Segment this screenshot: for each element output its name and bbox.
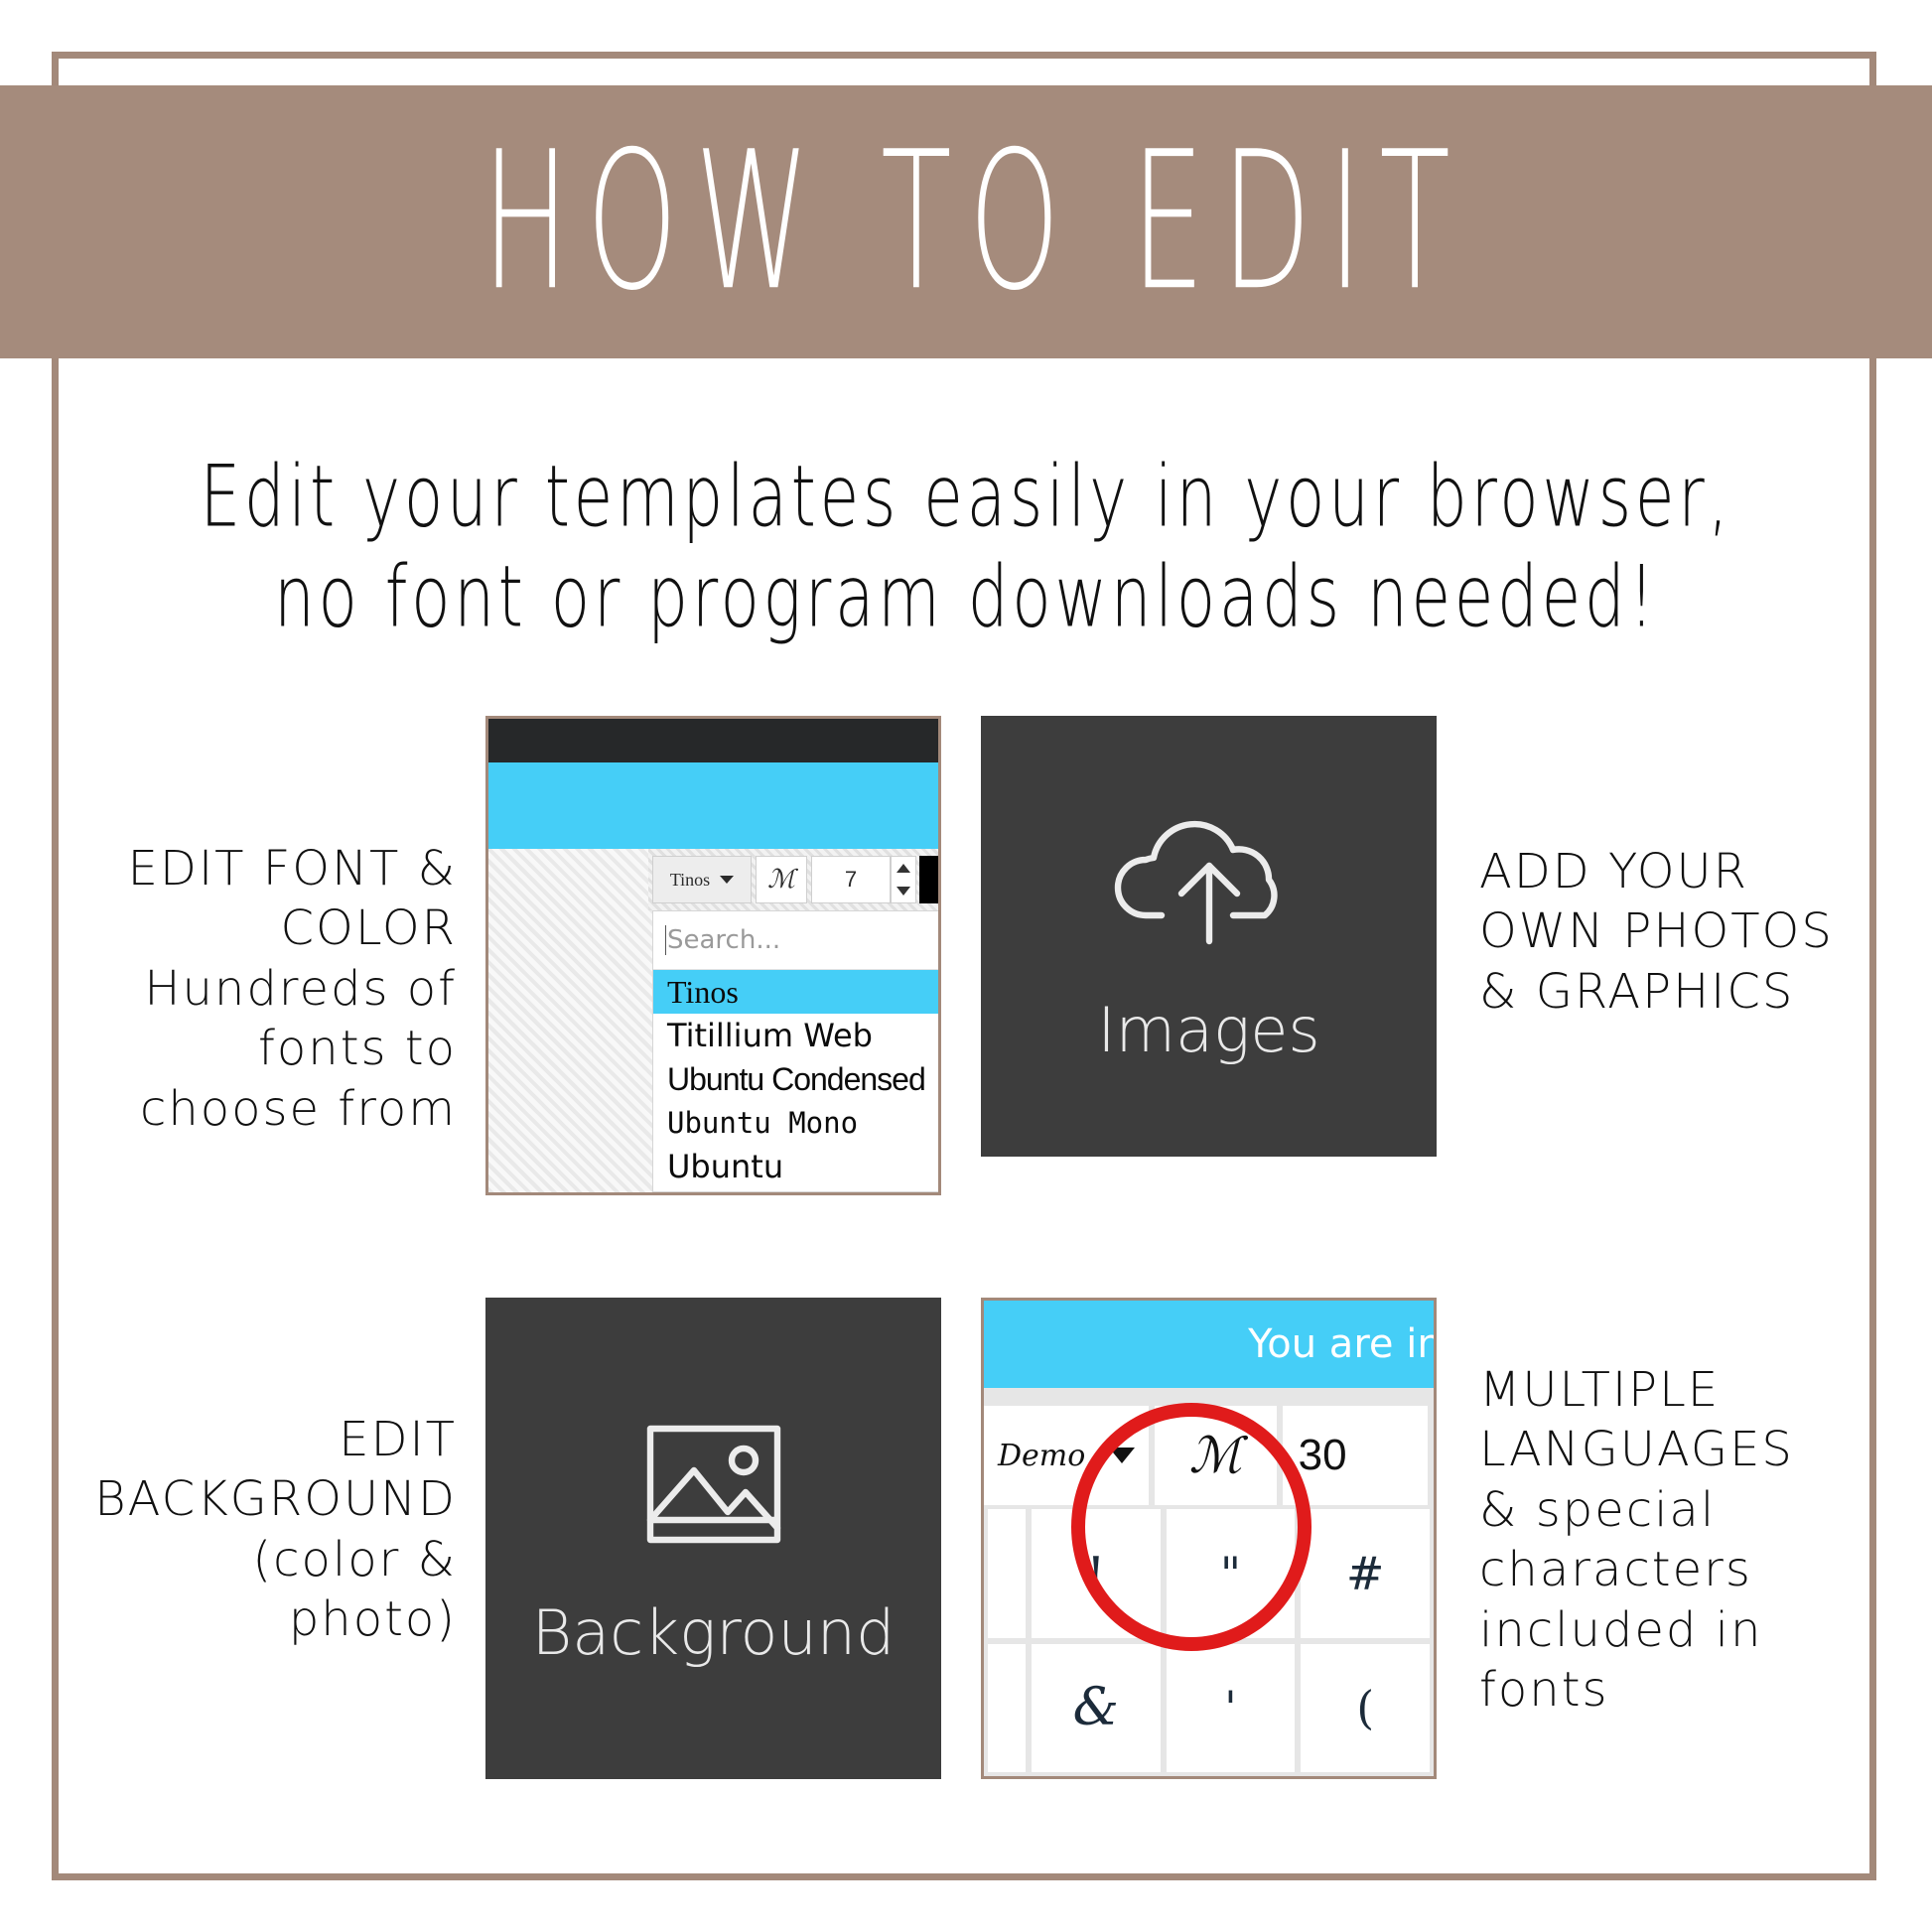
- subtitle-line-2: no font or program downloads needed!: [187, 547, 1745, 647]
- app-blue-banner: [488, 762, 938, 849]
- caption-bg-heading-2: BACKGROUND: [30, 1469, 457, 1529]
- caption-lang-body-3: included in: [1479, 1600, 1906, 1660]
- font-size-value: 30: [1299, 1431, 1347, 1480]
- caption-lang-body-2: characters: [1479, 1540, 1906, 1599]
- screenshot-special-characters: You are in e Demo ℳ 30 ! " # & ' (: [981, 1298, 1437, 1779]
- font-dropdown-list: Search... Tinos Titillium Web Ubuntu Con…: [652, 910, 941, 1192]
- screenshot-font-picker: Tinos ℳ 7 Search... Tinos Titillium Web …: [485, 716, 941, 1195]
- font-option-label: Ubuntu: [667, 1148, 783, 1185]
- caption-font-body-2: fonts to: [30, 1019, 457, 1078]
- caption-photos-heading-2: OWN PHOTOS: [1479, 901, 1906, 961]
- caption-photos-heading-1: ADD YOUR: [1479, 842, 1906, 901]
- caption-font-heading-2: COLOR: [30, 898, 457, 958]
- chevron-down-icon: [720, 876, 734, 884]
- char-cell-apostrophe[interactable]: ': [1167, 1644, 1296, 1773]
- font-search-input[interactable]: Search...: [653, 911, 941, 970]
- text-color-swatch[interactable]: [919, 856, 941, 903]
- caption-multiple-languages: MULTIPLE LANGUAGES & special characters …: [1479, 1360, 1906, 1721]
- font-toolbar: Tinos ℳ 7: [648, 849, 941, 910]
- font-option-titillium-web[interactable]: Titillium Web: [653, 1014, 941, 1057]
- char-cell[interactable]: [988, 1644, 1026, 1773]
- caption-lang-body-4: fonts: [1479, 1660, 1906, 1720]
- font-option-label: Tinos: [667, 974, 739, 1011]
- background-label: Background: [532, 1596, 896, 1669]
- app-blue-banner: You are in e: [984, 1301, 1434, 1388]
- char-cell-paren-open[interactable]: (: [1301, 1644, 1430, 1773]
- page-title: HOW TO EDIT: [465, 127, 1467, 318]
- cloud-upload-icon: [1110, 806, 1309, 960]
- caption-edit-font-color: EDIT FONT & COLOR Hundreds of fonts to c…: [30, 839, 457, 1139]
- caption-lang-body-1: & special: [1479, 1480, 1906, 1540]
- font-option-tinos[interactable]: Tinos: [653, 970, 941, 1014]
- font-option-ubuntu-condensed[interactable]: Ubuntu Condensed: [653, 1057, 941, 1101]
- picture-icon: [634, 1409, 793, 1563]
- banner-text: You are in e: [1248, 1321, 1437, 1367]
- images-label: Images: [1097, 994, 1319, 1066]
- caption-bg-body-2: photo): [30, 1589, 457, 1649]
- subtitle-line-1: Edit your templates easily in your brows…: [187, 447, 1745, 547]
- stepper-down-icon[interactable]: [897, 887, 910, 896]
- header-banner: HOW TO EDIT: [0, 85, 1932, 358]
- red-highlight-circle: [1071, 1403, 1311, 1651]
- caption-edit-background: EDIT BACKGROUND (color & photo): [30, 1410, 457, 1650]
- font-option-label: Titillium Web: [667, 1017, 873, 1054]
- stepper-up-icon[interactable]: [897, 864, 910, 873]
- char-cell-ampersand[interactable]: &: [1032, 1644, 1161, 1773]
- caption-font-body-1: Hundreds of: [30, 959, 457, 1019]
- caption-bg-heading-1: EDIT: [30, 1410, 457, 1469]
- app-titlebar: [488, 719, 938, 762]
- font-option-ubuntu-mono[interactable]: Ubuntu Mono: [653, 1101, 941, 1145]
- screenshot-images-button[interactable]: Images: [981, 716, 1437, 1157]
- font-size-stepper[interactable]: [891, 856, 916, 903]
- font-option-ubuntu[interactable]: Ubuntu: [653, 1145, 941, 1188]
- font-option-label: Ubuntu Mono: [667, 1106, 858, 1140]
- caption-bg-body-1: (color &: [30, 1530, 457, 1589]
- caption-lang-heading-2: LANGUAGES: [1479, 1420, 1906, 1479]
- caption-lang-heading-1: MULTIPLE: [1479, 1360, 1906, 1420]
- font-size-input[interactable]: 7: [811, 856, 891, 903]
- font-search-placeholder: Search...: [667, 925, 780, 955]
- font-name-dropdown[interactable]: Tinos: [652, 856, 752, 903]
- char-cell[interactable]: [988, 1509, 1026, 1638]
- caption-font-body-3: choose from: [30, 1079, 457, 1139]
- caption-add-photos: ADD YOUR OWN PHOTOS & GRAPHICS: [1479, 842, 1906, 1022]
- caption-photos-heading-3: & GRAPHICS: [1479, 962, 1906, 1022]
- script-font-preview-button[interactable]: ℳ: [756, 856, 807, 903]
- font-size-value: 7: [845, 867, 857, 893]
- font-option-label: Ubuntu Condensed: [667, 1061, 925, 1098]
- font-name-label: Demo: [998, 1439, 1085, 1473]
- script-a-icon: ℳ: [767, 865, 795, 895]
- char-cell-hash[interactable]: #: [1301, 1509, 1430, 1638]
- font-name-label: Tinos: [670, 870, 710, 891]
- subtitle: Edit your templates easily in your brows…: [187, 447, 1745, 647]
- caption-font-heading-1: EDIT FONT &: [30, 839, 457, 898]
- screenshot-background-button[interactable]: Background: [485, 1298, 941, 1779]
